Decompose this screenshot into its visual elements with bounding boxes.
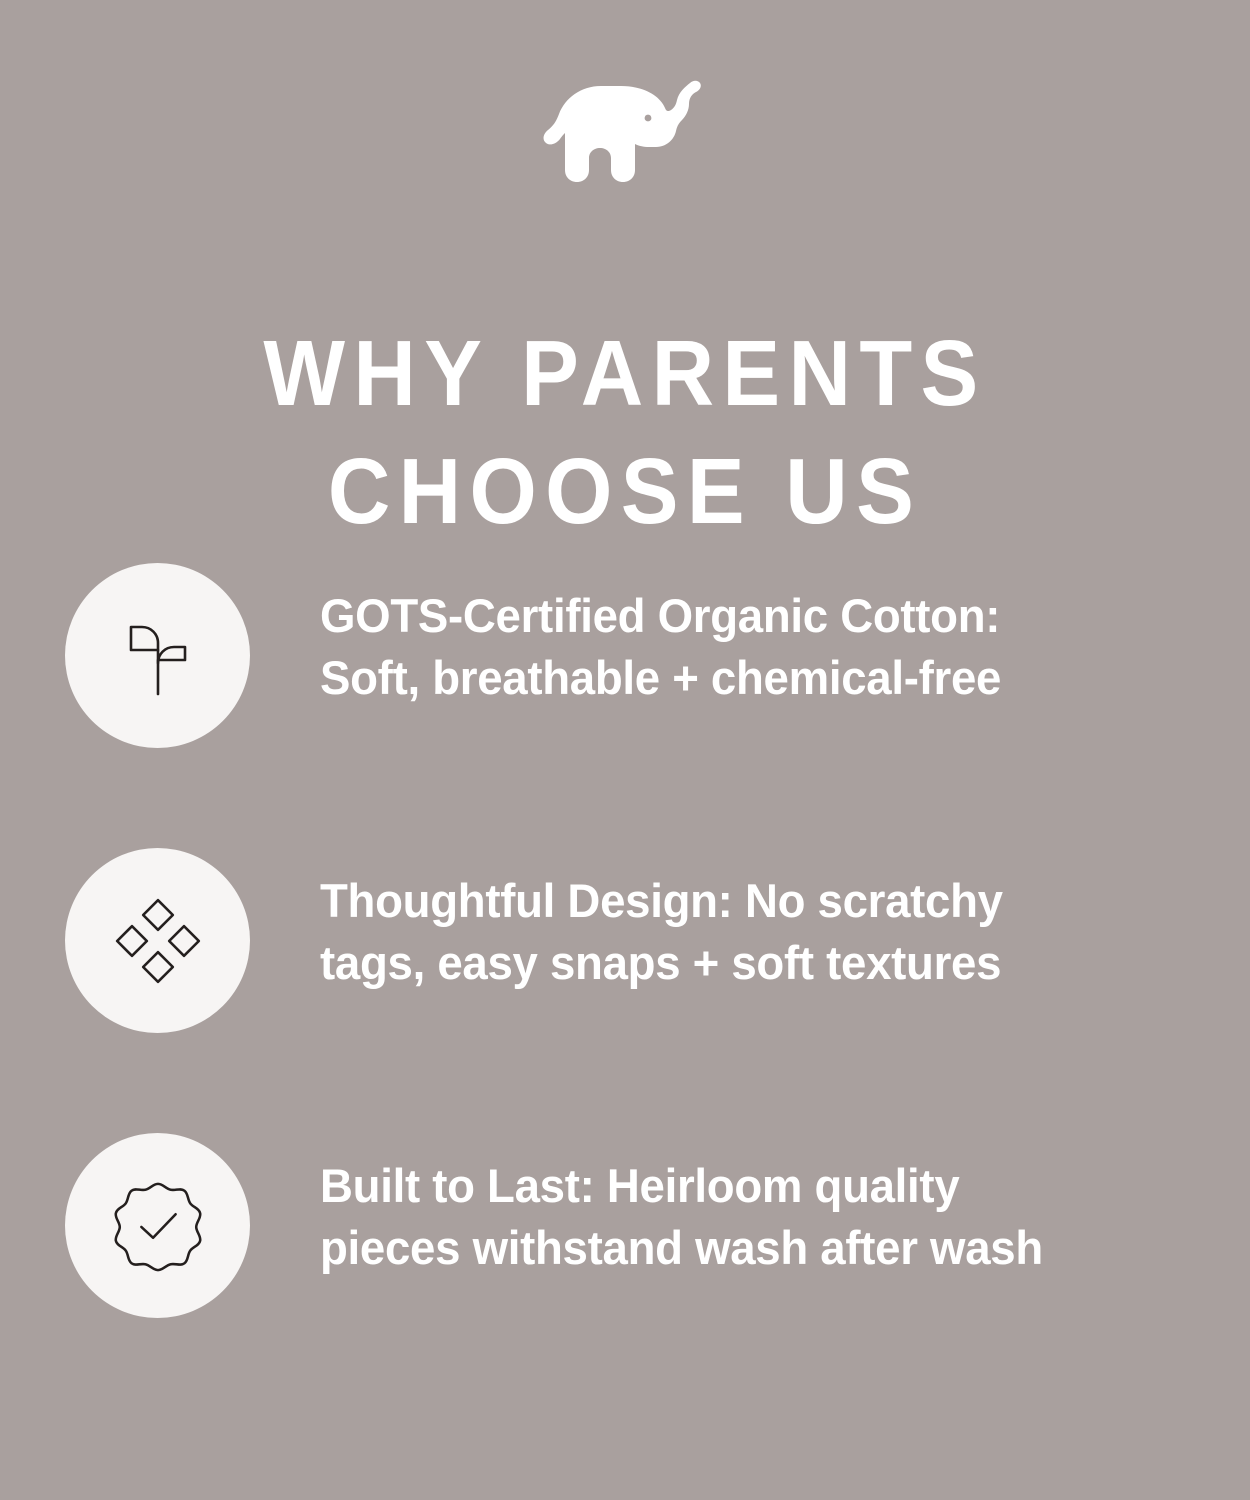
why-parents-choose-us-infographic: WHY PARENTS CHOOSE US xyxy=(0,0,1250,1500)
feature-text-organic-cotton: GOTS-Certified Organic Cotton: Soft, bre… xyxy=(320,585,1145,709)
brand-logo xyxy=(0,78,1250,188)
elephant-logo-icon xyxy=(540,78,710,188)
feature-icon-circle xyxy=(65,1133,250,1318)
scalloped-badge-check-icon xyxy=(109,1177,207,1275)
feature-item-built-to-last: Built to Last: Heirloom quality pieces w… xyxy=(0,1133,1250,1418)
feature-item-thoughtful-design: Thoughtful Design: No scratchy tags, eas… xyxy=(0,848,1250,1133)
feature-icon-circle xyxy=(65,848,250,1033)
feature-item-organic-cotton: GOTS-Certified Organic Cotton: Soft, bre… xyxy=(0,563,1250,848)
feature-text-thoughtful-design: Thoughtful Design: No scratchy tags, eas… xyxy=(320,870,1145,994)
sprout-leaf-icon xyxy=(112,610,204,702)
page-title: WHY PARENTS CHOOSE US xyxy=(44,314,1207,550)
feature-list: GOTS-Certified Organic Cotton: Soft, bre… xyxy=(0,563,1250,1418)
four-diamonds-icon xyxy=(112,895,204,987)
feature-text-built-to-last: Built to Last: Heirloom quality pieces w… xyxy=(320,1155,1145,1279)
feature-icon-circle xyxy=(65,563,250,748)
